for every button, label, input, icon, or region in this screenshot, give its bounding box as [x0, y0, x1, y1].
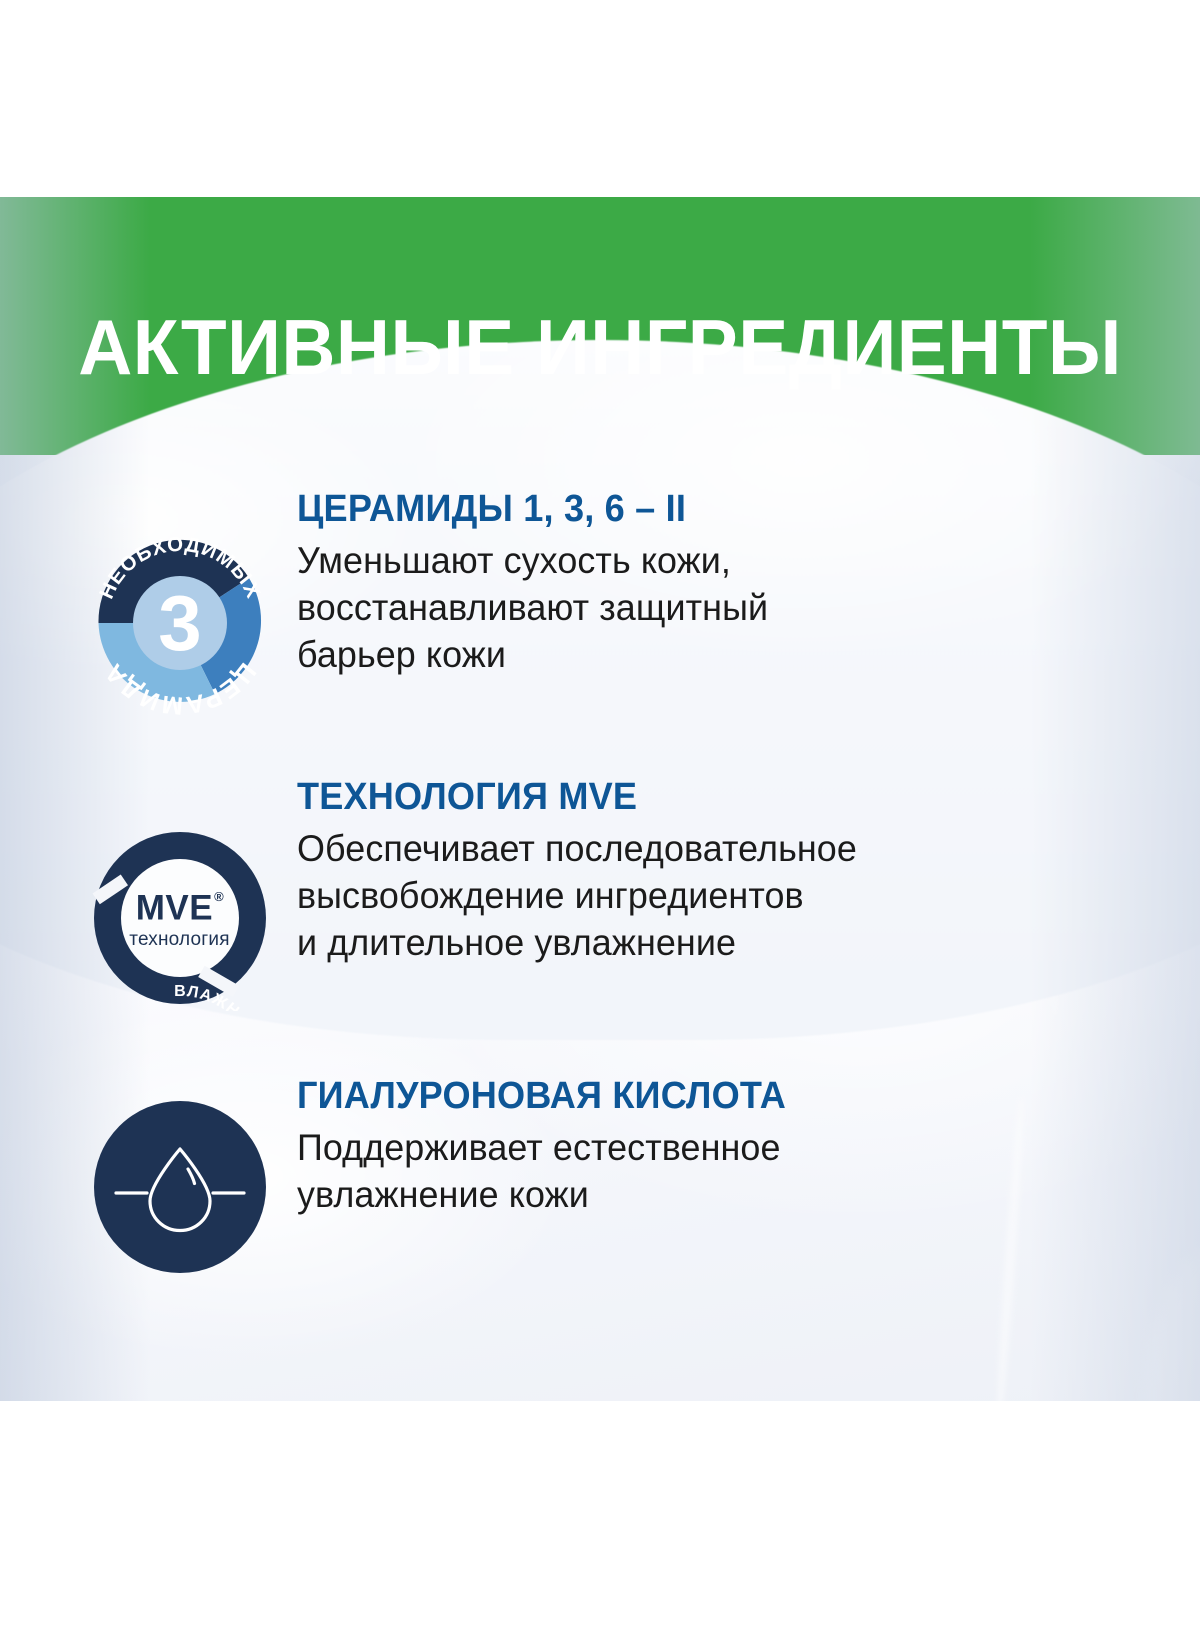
ingredient-title: ГИАЛУРОНОВАЯ КИСЛОТА [297, 1074, 786, 1118]
ingredient-copy: ТЕХНОЛОГИЯ MVE Обеспечивает последовател… [297, 775, 874, 966]
badge-slot: НЕОБХОДИМЫХ ЦЕРАМИДА 3 [62, 487, 297, 721]
ingredient-copy: ЦЕРАМИДЫ 1, 3, 6 – II Уменьшают сухость … [297, 487, 783, 678]
ingredient-description: Поддерживает естественное увлажнение кож… [297, 1124, 796, 1218]
badge-slot: УВЛАЖНЕНИЕ В ТЕЧЕНИЕ ДНЯ MVE® технология [62, 775, 297, 1011]
ingredient-copy: ГИАЛУРОНОВАЯ КИСЛОТА Поддерживает естест… [297, 1074, 812, 1218]
ingredient-title: ТЕХНОЛОГИЯ MVE [297, 775, 845, 819]
ingredient-row-hyaluronic: ГИАЛУРОНОВАЯ КИСЛОТА Поддерживает естест… [62, 1074, 812, 1280]
badge-center-number: 3 [158, 579, 201, 667]
three-ceramides-badge: НЕОБХОДИМЫХ ЦЕРАМИДА 3 [82, 525, 278, 721]
ingredient-description: Обеспечивает последовательное высвобожде… [297, 825, 857, 966]
water-drop-badge [87, 1094, 273, 1280]
ingredient-description: Уменьшают сухость кожи, восстанавливают … [297, 537, 768, 678]
ingredient-row-ceramides: НЕОБХОДИМЫХ ЦЕРАМИДА 3 ЦЕРАМИДЫ 1, 3, 6 … [62, 487, 783, 721]
mve-technology-badge: УВЛАЖНЕНИЕ В ТЕЧЕНИЕ ДНЯ MVE® технология [87, 825, 273, 1011]
ingredient-list: НЕОБХОДИМЫХ ЦЕРАМИДА 3 ЦЕРАМИДЫ 1, 3, 6 … [0, 0, 1200, 1600]
badge-slot [62, 1074, 297, 1280]
poster-canvas: АКТИВНЫЕ ИНГРЕДИЕНТЫ [0, 0, 1200, 1600]
ingredient-title: ЦЕРАМИДЫ 1, 3, 6 – II [297, 487, 758, 531]
ingredient-row-mve: УВЛАЖНЕНИЕ В ТЕЧЕНИЕ ДНЯ MVE® технология… [62, 775, 874, 1011]
